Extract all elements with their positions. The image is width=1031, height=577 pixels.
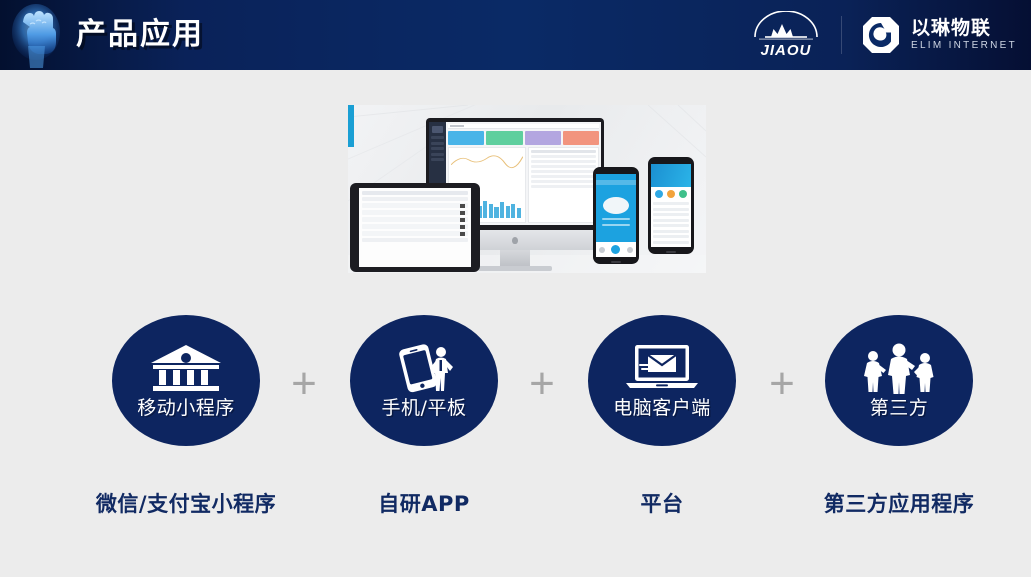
page-title: 产品应用 bbox=[76, 14, 204, 56]
dashboard-table bbox=[528, 147, 599, 223]
table-row bbox=[362, 203, 468, 208]
table-header-row bbox=[531, 150, 596, 153]
plus-separator: + bbox=[523, 367, 561, 405]
elim-logo-cn: 以琳物联 bbox=[911, 18, 1017, 39]
table-row bbox=[531, 185, 596, 188]
logo-divider bbox=[841, 16, 842, 54]
sidebar-item bbox=[431, 136, 444, 139]
channel-circle-label: 移动小程序 bbox=[137, 396, 235, 420]
phone-device-app-list bbox=[648, 157, 694, 254]
raised-fist-icon bbox=[8, 0, 64, 70]
list-item bbox=[653, 202, 689, 205]
phone-device-app-home bbox=[593, 167, 639, 264]
stat-card bbox=[486, 131, 522, 145]
table-row bbox=[531, 165, 596, 168]
phone-banner bbox=[651, 164, 691, 187]
tablet-device bbox=[350, 183, 480, 272]
channel-caption: 第三方应用程序 bbox=[749, 488, 1031, 518]
list-item bbox=[653, 235, 689, 238]
list-item bbox=[653, 230, 689, 233]
phone-quick-icons bbox=[651, 187, 691, 201]
dashboard-stat-cards bbox=[448, 131, 599, 145]
list-item bbox=[653, 241, 689, 244]
list-item bbox=[653, 224, 689, 227]
phone-text-line bbox=[602, 224, 630, 226]
table-row bbox=[531, 180, 596, 183]
phone-home-indicator bbox=[666, 251, 676, 253]
quick-icon bbox=[655, 190, 663, 198]
dashboard-topbar bbox=[448, 124, 599, 129]
table-row bbox=[531, 155, 596, 158]
jiaou-logo-text: JIAOU bbox=[761, 42, 812, 59]
sidebar-logo bbox=[432, 126, 443, 133]
channel-circle-third-party[interactable]: 第三方 bbox=[825, 315, 973, 446]
elim-logo: 以琳物联 ELIM INTERNET bbox=[860, 14, 1017, 56]
table-row bbox=[362, 224, 468, 229]
bank-building-icon bbox=[148, 342, 224, 394]
phone-app-ui bbox=[651, 164, 691, 247]
tablet-table-ui bbox=[359, 188, 471, 267]
person-with-phone-icon bbox=[386, 342, 462, 394]
imac-stand-base bbox=[478, 266, 552, 271]
three-people-group-icon bbox=[853, 342, 945, 394]
phone-header bbox=[596, 180, 636, 185]
sidebar-item bbox=[431, 153, 444, 156]
tab-icon bbox=[599, 247, 605, 253]
list-item bbox=[653, 208, 689, 211]
phone-scan-button bbox=[603, 197, 629, 214]
channel-caption-row: 微信/支付宝小程序 自研APP 平台 第三方应用程序 bbox=[0, 488, 1031, 524]
elim-logo-en: ELIM INTERNET bbox=[911, 39, 1017, 52]
table-row bbox=[362, 231, 468, 236]
table-row bbox=[531, 170, 596, 173]
channel-circle-phone-tablet[interactable]: 手机/平板 bbox=[350, 315, 498, 446]
jiaou-logo: JIAOU bbox=[749, 11, 823, 59]
sidebar-item bbox=[431, 142, 444, 145]
plus-separator: + bbox=[763, 367, 801, 405]
table-row bbox=[531, 175, 596, 178]
stat-card bbox=[525, 131, 561, 145]
tab-icon bbox=[627, 247, 633, 253]
header-logo-group: JIAOU 以琳物联 ELIM INTERNET bbox=[749, 0, 1017, 70]
quick-icon bbox=[679, 190, 687, 198]
table-row bbox=[531, 160, 596, 163]
sidebar-item bbox=[431, 158, 444, 161]
stat-card bbox=[563, 131, 599, 145]
laptop-email-icon bbox=[620, 342, 704, 394]
tab-icon-active bbox=[611, 245, 620, 254]
page-header: 产品应用 JIAOU 以琳物联 ELIM INTERNET bbox=[0, 0, 1031, 70]
phone-app-ui bbox=[596, 174, 636, 257]
quick-icon bbox=[667, 190, 675, 198]
channel-circle-row: 移动小程序 手机/平板 bbox=[0, 315, 1031, 450]
tablet-pagination bbox=[362, 238, 468, 242]
phone-home-indicator bbox=[611, 261, 621, 263]
channel-circle-pc-client[interactable]: 电脑客户端 bbox=[588, 315, 736, 446]
plus-separator: + bbox=[285, 367, 323, 405]
sidebar-item bbox=[431, 147, 444, 150]
tablet-toolbar bbox=[362, 191, 468, 195]
multi-device-product-screenshot bbox=[348, 105, 706, 273]
list-item bbox=[653, 219, 689, 222]
stat-card bbox=[448, 131, 484, 145]
table-row bbox=[362, 210, 468, 215]
channel-circle-mini-program[interactable]: 移动小程序 bbox=[112, 315, 260, 446]
list-item bbox=[653, 213, 689, 216]
tablet-filterbar bbox=[362, 197, 468, 201]
image-accent-bar bbox=[348, 105, 354, 147]
phone-list bbox=[651, 201, 691, 247]
elim-g-logo-icon bbox=[860, 14, 902, 56]
phone-tabbar bbox=[596, 242, 636, 257]
phone-text-line bbox=[602, 218, 630, 220]
imac-stand-neck bbox=[500, 250, 530, 266]
channel-circle-label: 手机/平板 bbox=[382, 396, 467, 420]
channel-circle-label: 第三方 bbox=[870, 396, 929, 420]
sunrise-crown-icon bbox=[749, 11, 823, 41]
table-row bbox=[362, 217, 468, 222]
channel-circle-label: 电脑客户端 bbox=[613, 396, 711, 420]
